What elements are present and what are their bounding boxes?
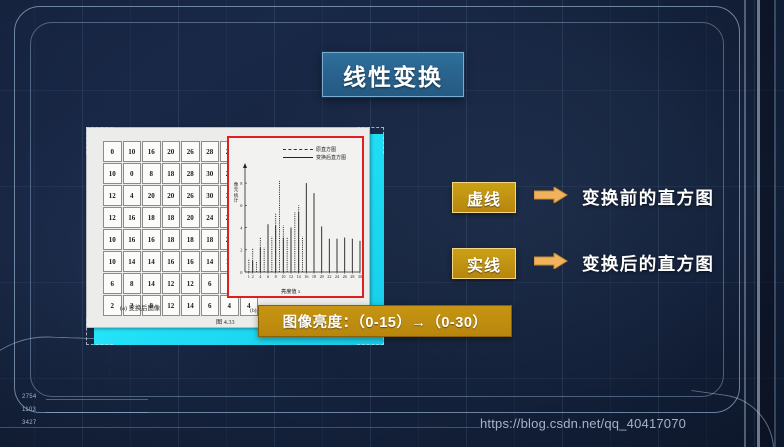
tag-solid: 实线 xyxy=(452,248,516,279)
legend-row-dashed: 虚线 变换前的直方图 xyxy=(452,182,714,213)
matrix-cell: 12 xyxy=(162,273,181,294)
legend-item-dashed: 原直方图 xyxy=(283,145,346,153)
tag-label: 虚线 xyxy=(467,186,501,210)
tag-dashed: 虚线 xyxy=(452,182,516,213)
svg-text:10: 10 xyxy=(281,274,285,279)
arrow-right-icon xyxy=(534,253,568,274)
slide: 2754 1103 3427 线性变换 01016202628282610081… xyxy=(0,0,784,447)
right-accent-bar-1 xyxy=(744,0,746,447)
matrix-cell: 14 xyxy=(142,251,161,272)
matrix-cell: 4 xyxy=(123,185,142,206)
legend-label: 变换后直方图 xyxy=(316,154,346,161)
brightness-caption: 图像亮度：（0-15）→（0-30） xyxy=(283,311,488,332)
matrix-cell: 16 xyxy=(123,207,142,228)
matrix-cell: 24 xyxy=(201,207,220,228)
matrix-cell: 2 xyxy=(103,295,122,316)
matrix-cell: 4 xyxy=(220,295,239,316)
bracket-top-right-icon xyxy=(357,127,384,154)
tick-line xyxy=(46,399,148,400)
matrix-cell: 18 xyxy=(201,229,220,250)
matrix-cell: 16 xyxy=(142,229,161,250)
matrix-cell: 26 xyxy=(181,185,200,206)
matrix-cell: 8 xyxy=(142,163,161,184)
matrix-cell: 12 xyxy=(162,295,181,316)
legend-text-solid: 变换后的直方图 xyxy=(582,251,714,276)
svg-text:4: 4 xyxy=(259,274,262,279)
legend-text-dashed: 变换前的直方图 xyxy=(582,185,714,210)
matrix-cell: 28 xyxy=(181,163,200,184)
svg-text:16: 16 xyxy=(304,274,308,279)
matrix-cell: 16 xyxy=(181,251,200,272)
matrix-cell: 14 xyxy=(181,295,200,316)
matrix-cell: 14 xyxy=(142,273,161,294)
bracket-bottom-left-icon xyxy=(86,318,113,345)
legend-row-solid: 实线 变换后的直方图 xyxy=(452,248,714,279)
legend-label: 原直方图 xyxy=(316,146,336,153)
bracket-top-left-icon xyxy=(86,127,113,154)
matrix-cell: 30 xyxy=(201,185,220,206)
matrix-cell: 10 xyxy=(103,229,122,250)
right-accent-bar-3 xyxy=(774,0,776,447)
tick-row: 1103 xyxy=(22,407,132,420)
brightness-caption-box: 图像亮度：（0-15）→（0-30） xyxy=(258,305,512,337)
matrix-cell: 12 xyxy=(103,207,122,228)
svg-text:30: 30 xyxy=(358,274,362,279)
matrix-cell: 20 xyxy=(142,185,161,206)
matrix-cell: 10 xyxy=(123,141,142,162)
svg-text:0: 0 xyxy=(240,270,243,275)
svg-text:12: 12 xyxy=(289,274,293,279)
right-accent-bar-2 xyxy=(757,0,760,447)
matrix-cell: 16 xyxy=(123,229,142,250)
svg-text:14: 14 xyxy=(297,274,302,279)
svg-text:6: 6 xyxy=(240,203,243,208)
watermark-underline xyxy=(0,427,480,428)
matrix-cell: 6 xyxy=(201,273,220,294)
matrix-cell: 14 xyxy=(201,251,220,272)
matrix-cell: 10 xyxy=(103,163,122,184)
matrix-cell: 0 xyxy=(123,163,142,184)
svg-text:28: 28 xyxy=(350,274,354,279)
matrix-cell: 6 xyxy=(103,273,122,294)
matrix-cell: 20 xyxy=(181,207,200,228)
matrix-cell: 18 xyxy=(181,229,200,250)
matrix-cell: 14 xyxy=(123,251,142,272)
chart-ylabel: 像元统计 xyxy=(232,182,240,204)
svg-text:18: 18 xyxy=(312,274,316,279)
dashed-line-icon xyxy=(283,149,313,150)
svg-text:8: 8 xyxy=(240,181,243,186)
matrix-cell: 28 xyxy=(201,141,220,162)
watermark: https://blog.csdn.net/qq_40417070 xyxy=(480,416,686,431)
legend-item-solid: 变换后直方图 xyxy=(283,153,346,161)
svg-text:8: 8 xyxy=(275,274,277,279)
matrix-cell: 30 xyxy=(201,163,220,184)
svg-text:2: 2 xyxy=(240,248,242,253)
matrix-cell: 18 xyxy=(162,229,181,250)
matrix-cell: 18 xyxy=(162,207,181,228)
chart-legend: 原直方图 变换后直方图 xyxy=(283,145,346,161)
svg-text:24: 24 xyxy=(335,274,340,279)
tick-value: 3427 xyxy=(22,420,37,426)
matrix-cell: 20 xyxy=(162,185,181,206)
svg-text:1: 1 xyxy=(248,274,250,279)
svg-text:26: 26 xyxy=(343,274,347,279)
matrix-cell: 26 xyxy=(181,141,200,162)
matrix-cell: 12 xyxy=(181,273,200,294)
svg-text:2: 2 xyxy=(252,274,254,279)
matrix-cell: 10 xyxy=(103,251,122,272)
figure-number: 图 4.33 xyxy=(216,317,235,326)
histogram-chart: 02468124681012141618202224262830 原直方图 变换… xyxy=(227,136,364,298)
slide-title-box: 线性变换 xyxy=(322,52,464,97)
svg-text:4: 4 xyxy=(240,225,243,230)
tick-line xyxy=(46,412,148,413)
matrix-cell: 20 xyxy=(162,141,181,162)
matrix-cell: 8 xyxy=(123,273,142,294)
matrix-cell: 18 xyxy=(142,207,161,228)
svg-text:22: 22 xyxy=(327,274,331,279)
matrix-cell: 12 xyxy=(103,185,122,206)
tick-value: 2754 xyxy=(22,394,37,400)
matrix-cell: 18 xyxy=(162,163,181,184)
figure-image: 0101620262828261008182830242212420202630… xyxy=(86,127,370,328)
tick-row: 2754 xyxy=(22,394,132,407)
arrow-right-icon xyxy=(534,187,568,208)
matrix-cell: 16 xyxy=(142,141,161,162)
matrix-cell: 16 xyxy=(162,251,181,272)
figure-caption-a: (a) 变换后图像 xyxy=(120,303,160,312)
svg-text:20: 20 xyxy=(320,274,324,279)
slide-title: 线性变换 xyxy=(343,58,443,92)
tick-value: 1103 xyxy=(22,407,36,413)
tag-label: 实线 xyxy=(467,252,501,276)
svg-text:6: 6 xyxy=(267,274,269,279)
solid-line-icon xyxy=(283,157,313,158)
chart-xlabel: 亮度值 x xyxy=(281,288,300,295)
matrix-cell: 6 xyxy=(201,295,220,316)
histogram-svg: 02468124681012141618202224262830 xyxy=(229,138,362,296)
